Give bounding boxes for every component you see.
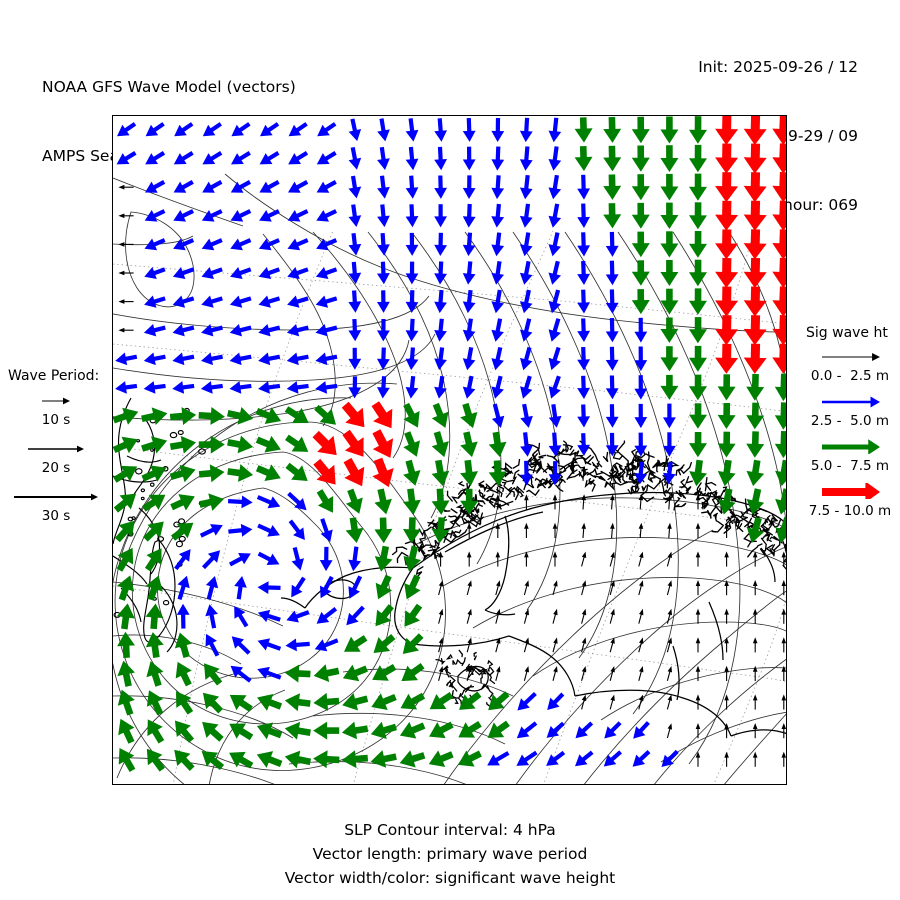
wave-vector-arrow (145, 182, 164, 193)
wave-vector-arrow (178, 576, 190, 600)
wave-vector-arrow (199, 407, 225, 425)
wave-vector-arrow (520, 204, 533, 228)
wave-vector-arrow (117, 153, 136, 165)
wave-vector-arrow (463, 118, 476, 142)
wave-vector-arrow (406, 118, 419, 141)
wave-vector-arrow (228, 436, 253, 454)
wave-vector-arrow (374, 637, 394, 653)
wave-vector-arrow (772, 144, 787, 174)
wave-vector-arrow (114, 437, 138, 453)
wave-vector-arrow (434, 147, 447, 170)
wave-vector-arrow (346, 518, 364, 543)
wave-vector-arrow (696, 523, 701, 538)
wave-period-legend-label: 10 s (8, 412, 104, 428)
wave-vector-arrow (715, 201, 738, 231)
wave-vector-arrow (258, 496, 281, 508)
wave-vector-arrow (610, 609, 615, 624)
wave-vector-arrow (660, 117, 678, 144)
wave-vector-arrow (316, 407, 336, 424)
wave-vector-arrow (639, 666, 644, 681)
sig-wave-height-legend-item-0: 0.0 - 2.5 m (800, 348, 900, 384)
wave-vector-arrow (260, 124, 278, 136)
wave-vector-arrow (349, 176, 362, 198)
wave-vector-arrow (204, 663, 220, 683)
wave-vector-arrow (377, 147, 390, 170)
wave-vector-arrow (317, 153, 336, 165)
wave-vector-arrow (203, 124, 221, 136)
wave-vector-arrow (228, 496, 253, 509)
wave-vector-arrow (377, 233, 390, 256)
wave-vector-arrow (258, 353, 280, 366)
wave-vector-arrow (639, 523, 644, 538)
wave-vector-arrow (117, 603, 135, 629)
wave-vector-arrow (371, 722, 396, 739)
wave-vector-arrow (639, 552, 644, 567)
wave-vector-arrow (317, 182, 336, 193)
wave-vector-arrow (663, 404, 676, 429)
slp-contour-33 (653, 658, 787, 785)
wave-vector-arrow (524, 666, 529, 681)
wave-vector-arrow (689, 260, 707, 287)
wave-vector-arrow (633, 752, 649, 767)
wave-vector-arrow (610, 494, 615, 509)
wave-vector-arrow (581, 523, 586, 538)
sig-wave-height-legend-item-2: 5.0 - 7.5 m (800, 438, 900, 474)
wave-vector-arrow (118, 299, 133, 304)
wave-vector-arrow (372, 665, 394, 681)
wave-vector-arrow (203, 693, 221, 711)
wave-period-legend-item-20s: 20 s (8, 440, 104, 476)
wave-vector-arrow (230, 381, 252, 394)
wave-vector-arrow (524, 523, 529, 538)
wave-period-legend-item-10s: 10 s (8, 392, 104, 428)
map-plot-area[interactable] (112, 115, 787, 785)
wave-vector-arrow (349, 233, 362, 255)
wave-vector-arrow (202, 239, 222, 251)
wave-vector-arrow (660, 145, 678, 172)
wave-vector-arrow (289, 124, 307, 136)
wave-vector-arrow (460, 460, 478, 486)
wave-vector-arrow (463, 204, 476, 228)
wave-vector-arrow (747, 460, 765, 486)
wave-vector-arrow (724, 694, 729, 709)
wave-vector-arrow (520, 319, 532, 342)
wave-vector-arrow (400, 722, 424, 739)
wave-vector-arrow (342, 722, 368, 740)
wave-vector-arrow (230, 324, 251, 336)
wave-vector-arrow (524, 609, 529, 624)
wave-vector-arrow (373, 404, 392, 429)
wave-vector-arrow (348, 291, 361, 313)
wave-vector-arrow (775, 460, 787, 486)
wave-vector-arrow (349, 205, 362, 227)
wave-vector-arrow (772, 258, 787, 288)
wave-vector-arrow (715, 144, 738, 174)
wave-vector-arrow (401, 694, 424, 710)
wave-vector-arrow (287, 296, 308, 308)
wave-vector-arrow (434, 233, 447, 256)
wave-vector-arrow (288, 210, 308, 222)
wave-vector-arrow (345, 405, 364, 428)
wave-vector-arrow (782, 637, 787, 652)
wave-period-arrow-icon (8, 392, 104, 408)
wave-vector-arrow (744, 116, 767, 145)
wave-vector-arrow (285, 693, 310, 711)
wave-vector-arrow (782, 609, 787, 624)
wave-vector-arrow (520, 290, 533, 313)
wave-vector-arrow (689, 460, 707, 486)
wave-vector-arrow (316, 296, 337, 308)
wave-vector-arrow (257, 407, 281, 424)
coastline-8 (731, 730, 787, 736)
wave-vector-arrow (229, 724, 251, 739)
wave-vector-arrow (639, 580, 644, 595)
sig-wave-height-legend-label: 0.0 - 2.5 m (800, 368, 900, 384)
wave-vector-arrow (172, 494, 195, 510)
wave-vector-arrow (463, 319, 476, 342)
wave-vector-arrow (663, 432, 676, 457)
wave-vector-arrow (753, 694, 758, 709)
wave-period-legend-item-30s: 30 s (8, 488, 104, 524)
map-vector-field (113, 116, 787, 785)
wave-vector-arrow (285, 722, 311, 740)
wave-vector-arrow (660, 260, 678, 286)
sig-wave-height-arrow-icon (800, 483, 900, 499)
wave-vector-arrow (176, 549, 191, 569)
wave-period-legend-label: 30 s (8, 508, 104, 524)
wave-vector-arrow (115, 353, 137, 366)
wave-vector-arrow (288, 465, 308, 481)
wave-vector-arrow (315, 639, 338, 651)
wave-vector-arrow (144, 381, 166, 394)
wave-vector-arrow (772, 116, 787, 145)
wave-vector-arrow (491, 147, 504, 171)
wave-vector-arrow (374, 489, 392, 514)
wave-vector-arrow (467, 580, 472, 595)
wave-vector-arrow (376, 606, 392, 626)
wave-vector-arrow (285, 665, 311, 683)
wave-vector-arrow (432, 404, 449, 428)
wave-vector-arrow (696, 551, 701, 566)
wave-vector-arrow (115, 466, 137, 482)
wave-vector-arrow (320, 547, 333, 571)
wave-vector-arrow (603, 203, 621, 228)
wave-vector-arrow (581, 494, 586, 509)
slp-contour-43 (601, 668, 787, 720)
wave-vector-arrow (316, 267, 337, 279)
wave-vector-arrow (231, 666, 251, 681)
wave-vector-arrow (234, 576, 247, 599)
wave-vector-arrow (176, 691, 191, 713)
sig-wave-height-arrow-icon (800, 393, 900, 409)
coastline-12 (281, 598, 305, 608)
wave-vector-arrow (406, 319, 419, 342)
wave-vector-arrow (406, 348, 419, 371)
wave-vector-arrow (660, 318, 678, 343)
coastline-4 (395, 568, 413, 644)
wave-vector-arrow (231, 153, 250, 165)
wave-vector-arrow (516, 753, 536, 766)
wave-vector-arrow (689, 403, 707, 428)
wave-vector-arrow (632, 174, 650, 200)
wave-vector-arrow (231, 210, 251, 222)
wave-vector-arrow (145, 153, 164, 165)
wave-vector-arrow (775, 489, 787, 515)
wave-vector-arrow (147, 719, 162, 741)
wave-vector-arrow (287, 381, 309, 394)
wave-vector-arrow (603, 117, 621, 143)
wave-vector-arrow (553, 637, 558, 652)
wave-vector-arrow (549, 204, 562, 228)
wave-vector-arrow (782, 752, 787, 767)
wave-vector-arrow (582, 580, 587, 595)
wave-vector-arrow (316, 210, 336, 222)
wave-vector-arrow (524, 637, 529, 652)
wave-vector-arrow (201, 381, 223, 394)
wave-vector-arrow (549, 319, 561, 342)
wave-vector-arrow (467, 551, 472, 566)
wave-vector-arrow (206, 576, 218, 599)
wave-vector-arrow (286, 611, 308, 623)
wave-vector-arrow (173, 324, 194, 336)
wave-vector-arrow (463, 376, 476, 399)
wave-vector-arrow (575, 146, 593, 171)
wave-vector-arrow (491, 290, 504, 313)
wave-vector-arrow (377, 376, 390, 398)
wave-vector-arrow (715, 229, 738, 259)
wave-vector-arrow (115, 381, 137, 394)
wave-vector-arrow (144, 353, 166, 366)
wave-vector-arrow (343, 665, 367, 682)
wave-vector-arrow (491, 118, 504, 142)
wave-vector-arrow (696, 580, 701, 595)
wave-vector-arrow (257, 464, 281, 481)
wave-vector-arrow (689, 432, 707, 457)
wave-vector-arrow (696, 694, 701, 709)
wave-vector-arrow (582, 609, 587, 624)
wave-vector-arrow (520, 175, 533, 199)
caption-line-2: Vector length: primary wave period (0, 842, 900, 866)
wave-vector-arrow (230, 296, 251, 308)
wave-vector-arrow (520, 147, 533, 171)
wave-vector-arrow (174, 750, 192, 769)
wave-vector-arrow (458, 722, 480, 737)
wave-vector-arrow (403, 489, 421, 515)
wave-vector-arrow (715, 315, 738, 345)
sig-wave-height-arrow-icon (800, 348, 900, 364)
wave-vector-arrow (287, 324, 308, 336)
sig-wave-height-legend-item-3: 7.5 - 10.0 m (800, 483, 900, 519)
wave-vector-arrow (549, 404, 562, 427)
wave-vector-arrow (202, 153, 221, 165)
wave-vector-arrow (524, 580, 529, 595)
wave-vector-arrow (172, 353, 194, 366)
wave-vector-arrow (344, 460, 364, 486)
wave-vector-arrow (377, 348, 390, 370)
wave-period-arrow-icon (8, 488, 104, 504)
wave-vector-arrow (667, 552, 672, 567)
wave-vector-arrow (772, 201, 787, 231)
wave-vector-arrow (463, 147, 476, 171)
slp-contour-11 (465, 232, 560, 610)
wave-vector-arrow (689, 231, 707, 258)
wave-vector-arrow (718, 460, 736, 486)
wave-vector-arrow (577, 433, 590, 456)
wave-vector-arrow (782, 723, 787, 738)
wave-vector-arrow (696, 494, 701, 509)
wave-vector-arrow (604, 723, 620, 739)
wave-vector-arrow (258, 610, 280, 622)
wave-vector-arrow (660, 289, 678, 315)
wave-vector-arrow (772, 172, 787, 202)
wave-vector-arrow (377, 119, 390, 142)
wave-vector-arrow (434, 176, 447, 199)
wave-vector-arrow (349, 147, 362, 169)
wave-vector-arrow (146, 604, 164, 629)
wave-vector-arrow (259, 210, 279, 222)
wave-vector-arrow (174, 182, 193, 193)
wave-vector-arrow (234, 606, 246, 626)
wave-vector-arrow (118, 214, 133, 219)
wave-vector-arrow (406, 147, 419, 170)
wave-vector-arrow (576, 723, 592, 738)
wave-vector-arrow (317, 609, 336, 624)
wave-vector-arrow (405, 606, 421, 627)
wave-vector-arrow (406, 204, 419, 227)
wave-vector-arrow (432, 432, 449, 457)
wave-vector-arrow (439, 609, 444, 624)
wave-vector-arrow (259, 554, 280, 565)
wave-vector-arrow (553, 551, 558, 566)
wave-vector-arrow (744, 287, 767, 317)
wave-vector-arrow (377, 205, 390, 228)
wave-vector-arrow (724, 609, 729, 624)
wave-vector-arrow (744, 144, 767, 174)
wave-vector-arrow (724, 666, 729, 681)
slp-contour-34 (723, 712, 787, 785)
wave-vector-arrow (288, 182, 307, 193)
wave-vector-arrow (230, 353, 252, 366)
slp-contour-20 (115, 422, 445, 770)
wave-vector-arrow (206, 634, 218, 656)
wave-vector-arrow (689, 174, 707, 201)
wave-vector-arrow (696, 723, 701, 738)
wave-vector-arrow (230, 267, 251, 279)
wave-vector-arrow (577, 204, 590, 228)
wave-vector-arrow (348, 262, 361, 284)
wave-vector-arrow (715, 287, 738, 317)
wave-vector-arrow (491, 261, 504, 284)
wave-vector-arrow (634, 347, 647, 372)
wave-vector-arrow (406, 233, 419, 256)
wave-vector-arrow (230, 553, 251, 565)
wave-vector-arrow (606, 261, 619, 286)
wave-vector-arrow (582, 666, 587, 681)
wave-vector-arrow (546, 753, 564, 766)
wave-vector-arrow (577, 261, 590, 285)
wave-vector-arrow (744, 315, 767, 345)
sig-wave-height-arrow-icon (800, 438, 900, 454)
wave-vector-arrow (117, 661, 135, 687)
wave-vector-arrow (639, 637, 644, 652)
wave-vector-arrow (118, 271, 133, 276)
wave-vector-arrow (660, 346, 678, 371)
wave-vector-arrow (318, 491, 333, 513)
wave-period-legend-label: 20 s (8, 460, 104, 476)
wave-vector-arrow (177, 604, 190, 629)
wave-vector-arrow (201, 524, 223, 536)
wave-vector-arrow (632, 146, 650, 172)
wave-vector-arrow (406, 262, 419, 285)
wave-vector-arrow (467, 609, 472, 624)
wave-vector-arrow (667, 637, 672, 652)
wave-vector-arrow (667, 609, 672, 624)
wave-vector-arrow (549, 175, 562, 199)
wave-vector-arrow (547, 694, 563, 710)
wave-vector-arrow (606, 376, 619, 400)
slp-contour-10 (413, 234, 501, 564)
wave-vector-arrow (632, 117, 650, 143)
wave-vector-arrow (610, 523, 615, 538)
wave-vector-arrow (173, 267, 194, 279)
wave-vector-arrow (639, 609, 644, 624)
wave-vector-arrow (606, 232, 619, 257)
wave-vector-arrow (775, 374, 787, 401)
wave-vector-arrow (577, 347, 590, 370)
wave-vector-arrow (257, 751, 281, 768)
wave-vector-arrow (667, 494, 672, 509)
wave-vector-arrow (775, 431, 787, 458)
wave-vector-arrow (230, 239, 250, 251)
wave-vector-arrow (404, 404, 420, 427)
wave-vector-arrow (231, 124, 249, 136)
wave-vector-arrow (660, 375, 678, 400)
wave-vector-arrow (119, 748, 135, 770)
wave-vector-arrow (291, 578, 304, 598)
wave-vector-arrow (547, 723, 564, 738)
wave-vector-arrow (487, 753, 508, 766)
wave-vector-arrow (606, 318, 619, 342)
wave-vector-arrow (689, 202, 707, 229)
wave-vector-arrow (228, 524, 252, 537)
wave-vector-arrow (582, 695, 587, 710)
wave-vector-arrow (549, 147, 562, 171)
wave-vector-arrow (258, 525, 280, 537)
wave-vector-arrow (201, 353, 223, 366)
wave-vector-arrow (524, 551, 529, 566)
wave-vector-arrow (313, 722, 339, 740)
wave-vector-arrow (434, 204, 447, 227)
wave-vector-arrow (753, 551, 758, 566)
wave-vector-arrow (434, 319, 447, 342)
model-title-line1: NOAA GFS Wave Model (vectors) (42, 76, 317, 99)
wave-vector-arrow (577, 376, 590, 399)
wave-vector-arrow (715, 258, 738, 288)
wave-vector-arrow (348, 576, 360, 598)
wave-vector-arrow (606, 404, 619, 428)
wave-vector-arrow (317, 124, 335, 136)
wave-vector-arrow (401, 666, 422, 682)
wave-vector-arrow (632, 289, 650, 314)
wave-vector-arrow (520, 118, 533, 142)
wave-vector-arrow (632, 260, 650, 285)
wave-vector-arrow (144, 324, 165, 336)
wave-period-arrow-icon (8, 440, 104, 456)
wave-vector-arrow (434, 348, 447, 371)
figure-caption: SLP Contour interval: 4 hPa Vector lengt… (0, 818, 900, 890)
wave-vector-arrow (667, 666, 672, 681)
wave-vector-arrow (406, 376, 419, 398)
